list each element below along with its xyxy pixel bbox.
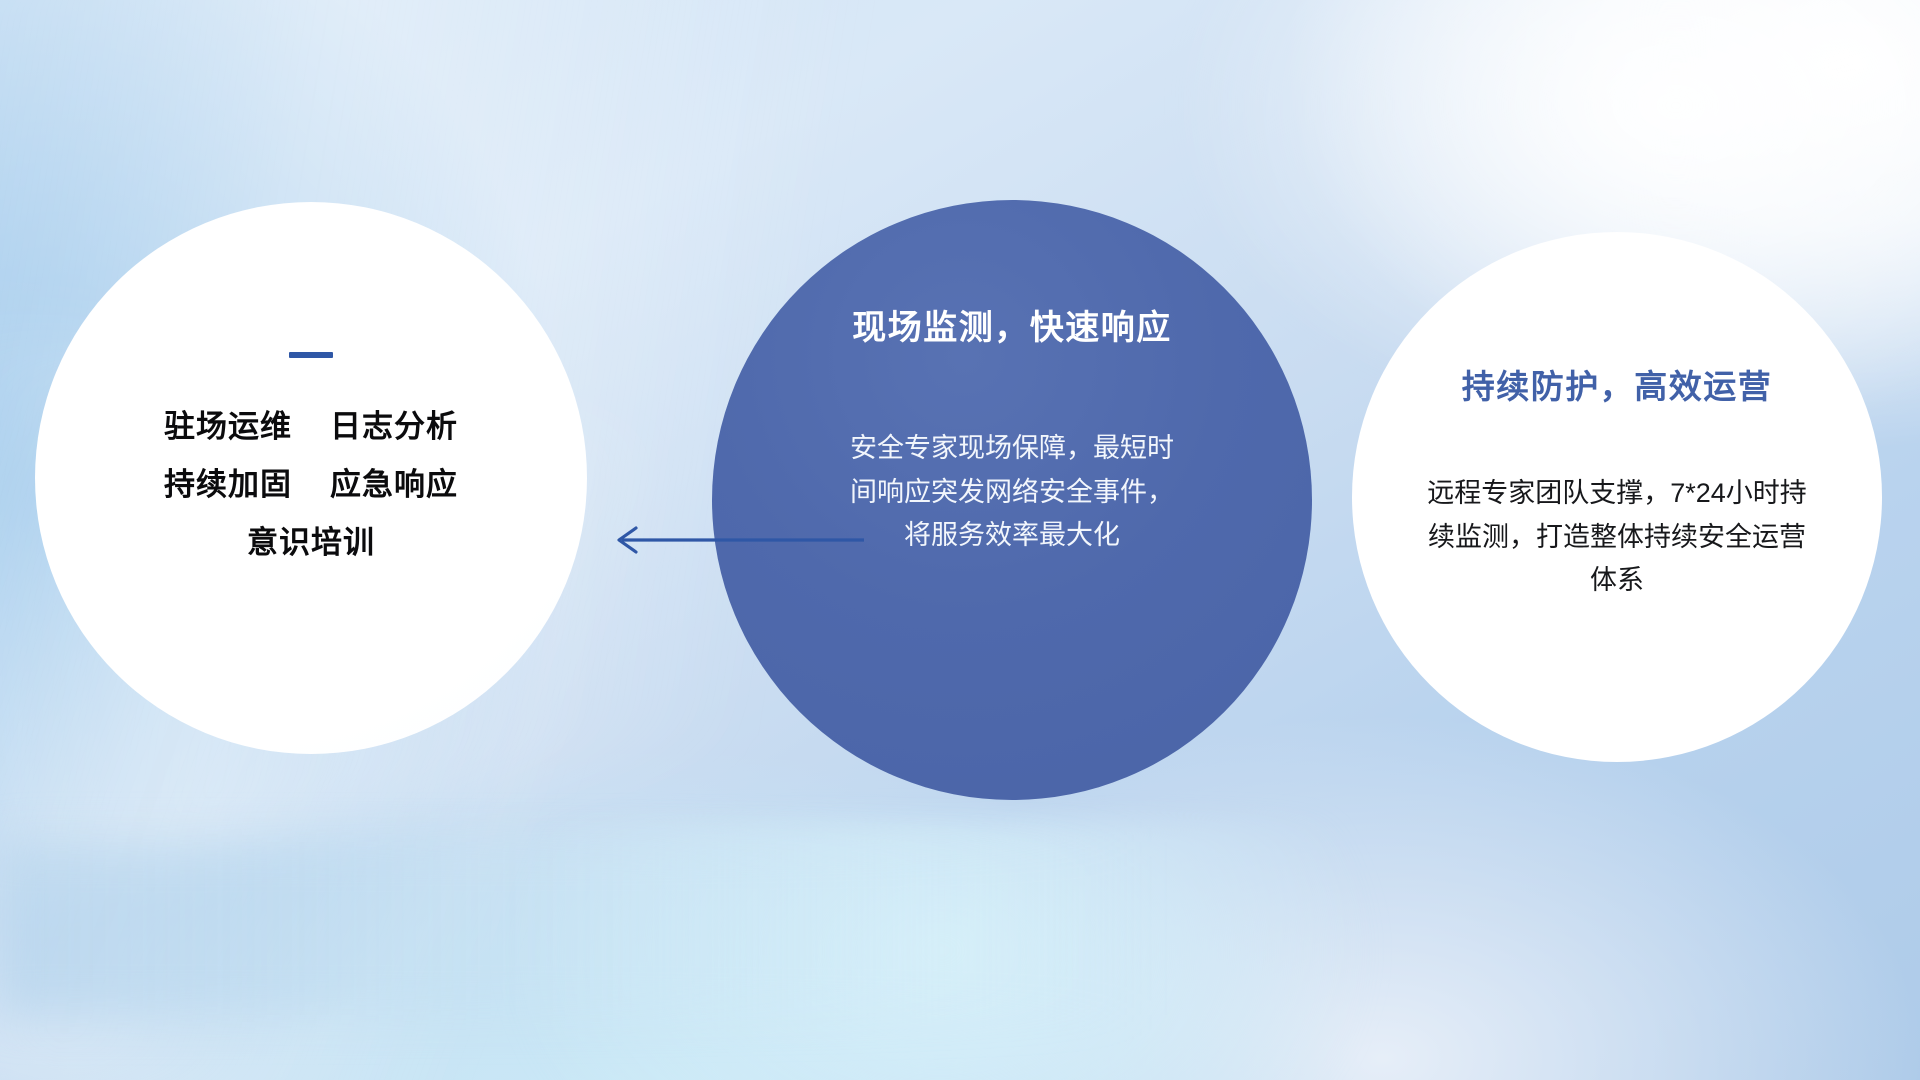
- left-circle-content: 驻场运维 日志分析 持续加固 应急响应 意识培训: [35, 352, 587, 560]
- right-feature-circle[interactable]: 持续防护，高效运营 远程专家团队支撑，7*24小时持续监测，打造整体持续安全运营…: [1352, 232, 1882, 762]
- middle-feature-circle[interactable]: 现场监测，快速响应 安全专家现场保障，最短时间响应突发网络安全事件，将服务效率最…: [712, 200, 1312, 800]
- tag-row: 驻场运维 日志分析: [164, 410, 458, 444]
- middle-circle-heading: 现场监测，快速响应: [852, 300, 1172, 349]
- tag-row: 意识培训: [247, 526, 375, 560]
- capability-tag: 持续加固: [164, 468, 292, 502]
- left-capability-circle[interactable]: 驻场运维 日志分析 持续加固 应急响应 意识培训: [35, 202, 587, 754]
- slide-canvas: 驻场运维 日志分析 持续加固 应急响应 意识培训 持续防护，高效运营 远程专家团…: [0, 0, 1920, 1080]
- background-band-bottom-left: [0, 842, 1152, 1015]
- capability-tag-list: 驻场运维 日志分析 持续加固 应急响应 意识培训: [164, 410, 458, 560]
- left-arrow-icon: [600, 516, 866, 564]
- capability-tag: 日志分析: [330, 410, 458, 444]
- capability-tag: 驻场运维: [164, 410, 292, 444]
- short-dash-divider-icon: [289, 352, 333, 358]
- right-circle-body-text: 远程专家团队支撑，7*24小时持续监测，打造整体持续安全运营体系: [1417, 472, 1817, 603]
- capability-tag: 应急响应: [330, 468, 458, 502]
- middle-circle-body-text: 安全专家现场保障，最短时间响应突发网络安全事件，将服务效率最大化: [847, 427, 1177, 558]
- capability-tag: 意识培训: [247, 526, 375, 560]
- right-circle-heading: 持续防护，高效运营: [1462, 360, 1773, 408]
- tag-row: 持续加固 应急响应: [164, 468, 458, 502]
